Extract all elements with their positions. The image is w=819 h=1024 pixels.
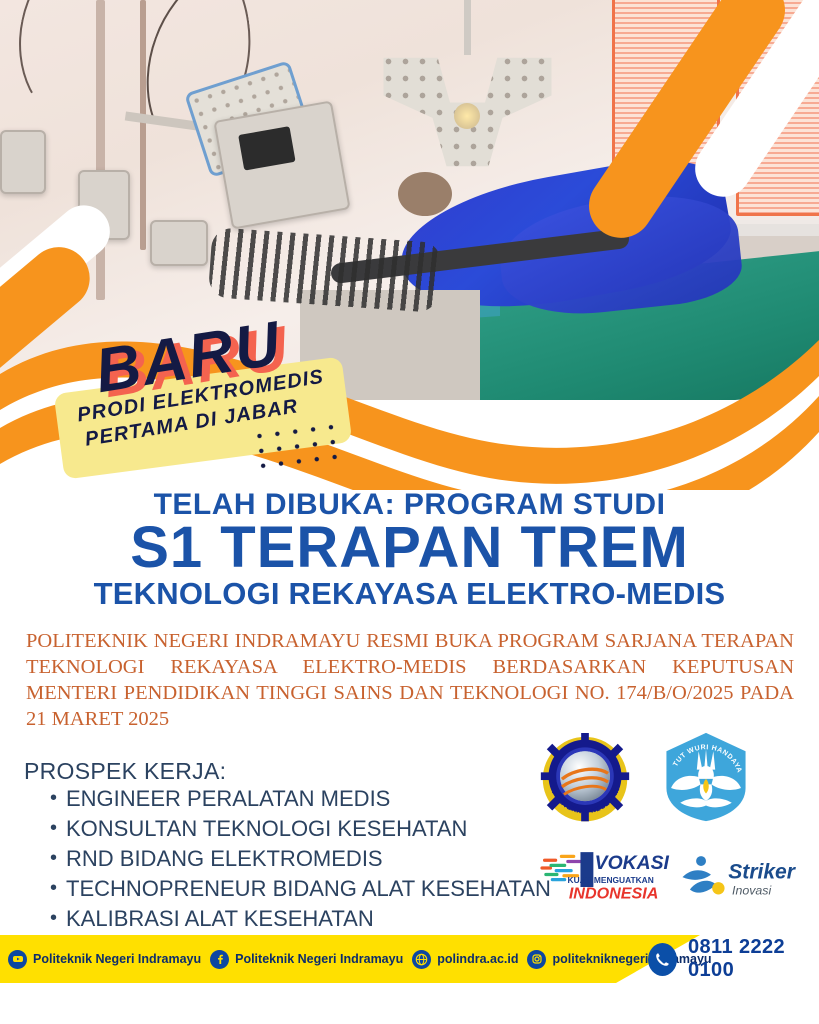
- youtube-icon: [8, 950, 27, 969]
- footer-website[interactable]: polindra.ac.id: [412, 950, 518, 969]
- photo-device-left: [0, 130, 46, 194]
- vokasi-tagline: KUAT, MENGUATKAN: [568, 875, 654, 885]
- globe-icon: [412, 950, 431, 969]
- poster: BARU PRODI ELEKTROMEDIS PERTAMA DI JABAR…: [0, 0, 819, 1024]
- phone-icon: [648, 943, 677, 976]
- vokasi-logo: VOKASI KUAT, MENGUATKAN INDONESIA: [540, 847, 670, 909]
- vokasi-indonesia: INDONESIA: [569, 885, 659, 903]
- phone-number: 0811 2222 0100: [688, 936, 819, 982]
- footer-website-label: polindra.ac.id: [437, 952, 518, 966]
- striker-logo: Striker Inovasi: [680, 852, 810, 906]
- photo-monitor-main: [213, 100, 350, 229]
- footer-youtube-label: Politeknik Negeri Indramayu: [33, 952, 201, 966]
- list-item: KONSULTAN TEKNOLOGI KESEHATAN: [50, 814, 551, 844]
- photo-light-arm: [464, 0, 471, 55]
- polindra-logo: POLITEKNIK NEGERI INDRAMAYU: [537, 733, 633, 829]
- list-item: ENGINEER PERALATAN MEDIS: [50, 784, 551, 814]
- photo-device-small: [150, 220, 208, 266]
- prospek-heading: PROSPEK KERJA:: [24, 758, 226, 785]
- page-title: S1 TERAPAN TREM: [0, 518, 819, 579]
- footer-social-list: Politeknik Negeri Indramayu Politeknik N…: [8, 935, 712, 983]
- footer-facebook[interactable]: Politeknik Negeri Indramayu: [210, 950, 403, 969]
- tut-wuri-handayani-logo: TUT WURI HANDAYANI: [660, 729, 752, 825]
- footer-youtube[interactable]: Politeknik Negeri Indramayu: [8, 950, 201, 969]
- striker-word: Striker: [728, 860, 796, 883]
- headline-subtitle: TEKNOLOGI REKAYASA ELEKTRO-MEDIS: [0, 576, 819, 612]
- photo-surgical-light-main: [380, 35, 555, 170]
- prospek-list: ENGINEER PERALATAN MEDIS KONSULTAN TEKNO…: [24, 784, 551, 934]
- vokasi-word: VOKASI: [595, 852, 670, 874]
- instagram-icon: [527, 950, 546, 969]
- list-item: TECHNOPRENEUR BIDANG ALAT KESEHATAN: [50, 874, 551, 904]
- list-item: RND BIDANG ELEKTROMEDIS: [50, 844, 551, 874]
- striker-inovasi-word: Inovasi: [732, 883, 772, 897]
- body-paragraph: POLITEKNIK NEGERI INDRAMAYU RESMI BUKA P…: [26, 628, 794, 732]
- photo-light-core: [454, 103, 480, 129]
- footer-facebook-label: Politeknik Negeri Indramayu: [235, 952, 403, 966]
- footer-phone[interactable]: 0811 2222 0100: [648, 935, 819, 983]
- list-item: KALIBRASI ALAT KESEHATAN: [50, 904, 551, 934]
- photo-patient-head: [398, 172, 452, 216]
- facebook-icon: [210, 950, 229, 969]
- photo-monitor-screen: [238, 126, 295, 170]
